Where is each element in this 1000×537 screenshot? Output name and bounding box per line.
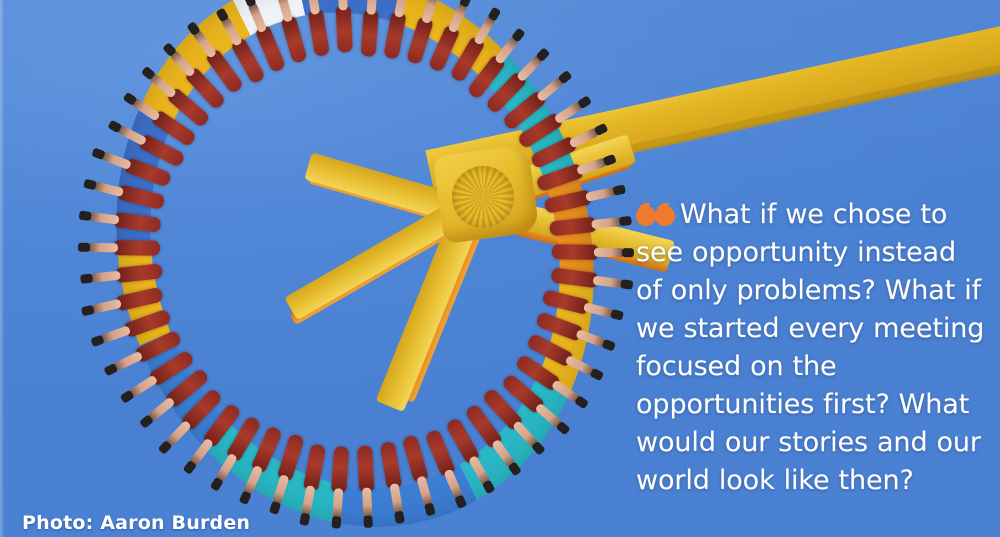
photo-credit: Photo: Aaron Burden [22,512,250,534]
ride-gondola-ring [52,0,658,537]
quote-block: What if we chose to see opportunity inst… [636,196,988,500]
quote-text: What if we chose to see opportunity inst… [636,196,988,500]
quote-slide: What if we chose to see opportunity inst… [0,0,1000,537]
ride-riders-group [52,0,658,537]
